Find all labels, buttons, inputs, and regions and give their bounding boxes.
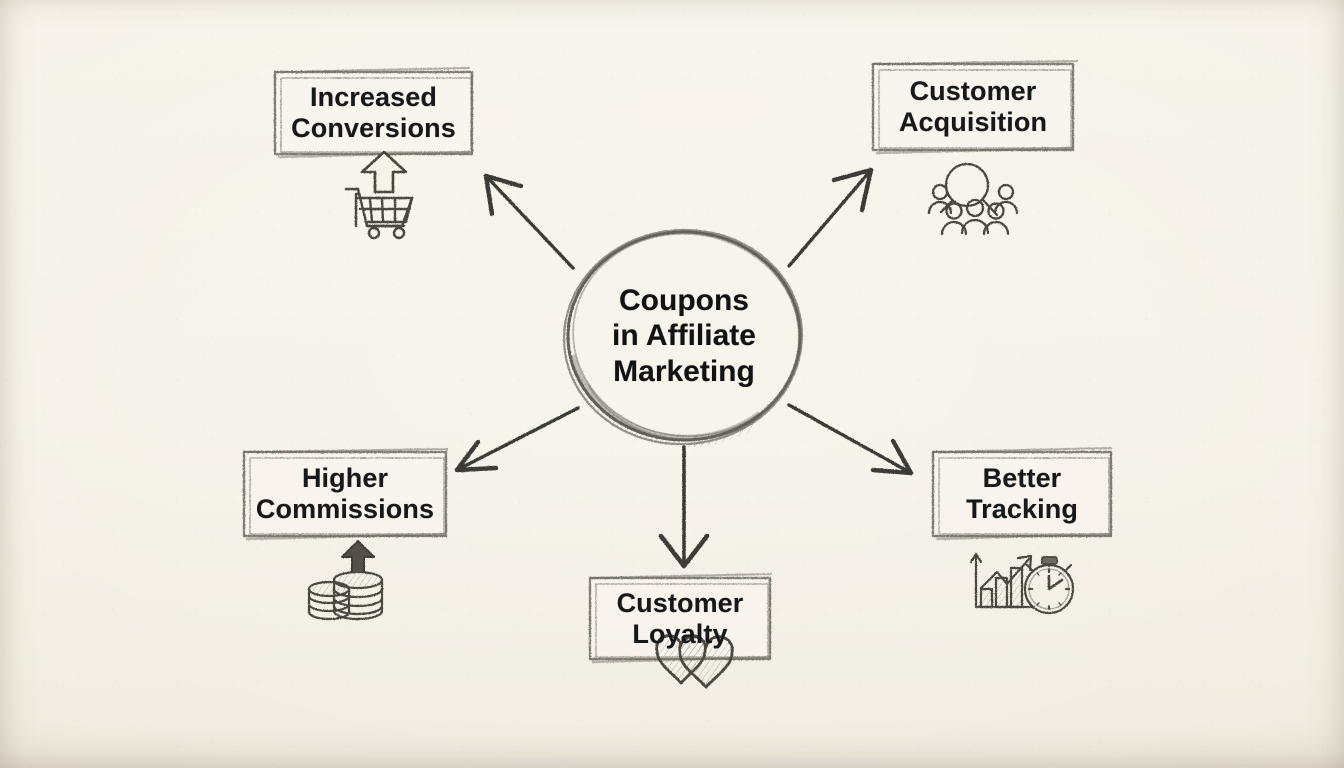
node-label-higher-commissions: Higher Commissions [256,463,434,525]
connector-better-tracking [789,405,911,473]
node-increased-conversions[interactable]: Increased Conversions [275,72,472,154]
shopping-cart-up-arrow-icon [346,152,412,238]
diagram-canvas: Coupons in Affiliate Marketing Increased… [0,0,1344,768]
node-higher-commissions[interactable]: Higher Commissions [244,452,446,536]
node-customer-acquisition[interactable]: Customer Acquisition [873,64,1073,150]
bar-chart-stopwatch-icon [971,554,1073,613]
connector-customer-loyalty [661,447,707,566]
connector-increased-conversions [486,176,573,268]
node-better-tracking[interactable]: Better Tracking [933,452,1111,536]
coin-stacks-up-arrow-icon [309,541,382,619]
center-node[interactable]: Coupons in Affiliate Marketing [568,272,800,400]
node-label-increased-conversions: Increased Conversions [291,82,456,144]
node-customer-loyalty[interactable]: Customer Loyalty [590,578,770,659]
node-label-better-tracking: Better Tracking [966,463,1078,525]
node-label-customer-loyalty: Customer Loyalty [617,588,744,650]
connector-customer-acquisition [789,170,871,266]
node-label-customer-acquisition: Customer Acquisition [899,76,1047,138]
center-node-label: Coupons in Affiliate Marketing [612,283,756,388]
magnifier-over-people-icon [929,164,1017,234]
connector-higher-commissions [457,408,578,470]
